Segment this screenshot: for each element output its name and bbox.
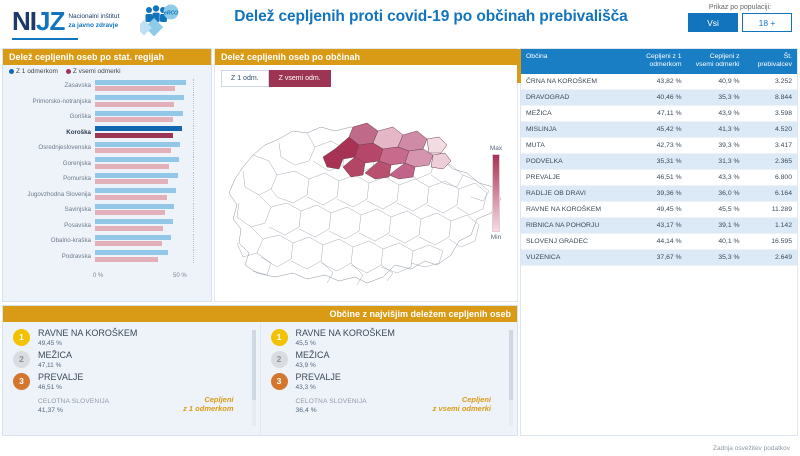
- region-bar-group: [95, 234, 207, 248]
- table-cell-population: 4.520: [745, 121, 797, 137]
- region-bar-group: [95, 187, 207, 201]
- bar-one-dose: [95, 126, 182, 131]
- table-cell-one-dose: 43,17 %: [626, 217, 687, 233]
- legend-label-one-dose: Z 1 odmerkom: [16, 68, 58, 75]
- bar-one-dose: [95, 111, 183, 116]
- region-bar-group: [95, 203, 207, 217]
- region-bar-row[interactable]: Savinjska: [7, 202, 207, 218]
- region-chart-panel: Delež cepljenih oseb po stat. regijah Z …: [2, 48, 212, 302]
- top-municipality-name: MEŽICA: [296, 351, 330, 361]
- bar-all-doses: [95, 164, 169, 169]
- bar-one-dose: [95, 95, 184, 100]
- bar-all-doses: [95, 210, 165, 215]
- top-municipality-item[interactable]: 3PREVALJE46,51 %: [13, 373, 250, 391]
- top-municipality-value: 43,3 %: [296, 384, 341, 391]
- population-selector-label: Prikaz po populaciji:: [688, 4, 792, 11]
- table-cell-all-doses: 39,3 %: [687, 137, 745, 153]
- slovenia-map[interactable]: [215, 87, 519, 299]
- map-container[interactable]: Max Min: [215, 87, 519, 303]
- chart-gridline: [193, 141, 194, 155]
- chart-gridline: [193, 79, 194, 93]
- top-municipality-value: 43,9 %: [296, 362, 330, 369]
- top-municipality-value: 46,51 %: [38, 384, 83, 391]
- table-cell-all-doses: 36,0 %: [687, 185, 745, 201]
- legend-dot-one-dose: [9, 69, 14, 74]
- table-header-all-doses[interactable]: Cepljeni z vsemi odmerki: [687, 49, 745, 74]
- bar-all-doses: [95, 257, 158, 262]
- top-municipality-item[interactable]: 1RAVNE NA KOROŠKEM49,45 %: [13, 329, 250, 347]
- table-cell-one-dose: 49,45 %: [626, 201, 687, 217]
- bar-one-dose: [95, 157, 179, 162]
- logo-subtitle-line2: za javno zdravje: [68, 22, 118, 29]
- top-municipality-name: MEŽICA: [38, 351, 72, 361]
- map-panel-title: Delež cepljenih oseb po občinah: [215, 49, 517, 65]
- bar-one-dose: [95, 250, 168, 255]
- dose-type-tag-line2: z 1 odmerkom: [183, 404, 233, 414]
- region-bar-label: Posavska: [7, 222, 95, 229]
- map-legend-gradient: [492, 154, 500, 232]
- chart-gridline: [193, 94, 194, 108]
- region-bar-label: Gorenjska: [7, 160, 95, 167]
- rank-badge-1: 1: [13, 329, 30, 346]
- top-list-scrollbar-thumb[interactable]: [509, 330, 513, 400]
- population-selector: Prikaz po populaciji: Vsi 18 +: [688, 4, 792, 32]
- region-bar-label: Zasavska: [7, 82, 95, 89]
- rank-badge-1: 1: [271, 329, 288, 346]
- svg-text:eRCO: eRCO: [164, 11, 178, 17]
- table-row[interactable]: SLOVENJ GRADEC44,14 %40,1 %16.595: [521, 233, 797, 249]
- chart-gridline: [193, 156, 194, 170]
- table-cell-population: 8.844: [745, 89, 797, 105]
- region-bar-row[interactable]: Gorenjska: [7, 156, 207, 172]
- table-cell-obcina: MUTA: [521, 137, 626, 153]
- map-panel: Delež cepljenih oseb po občinah Z 1 odm.…: [214, 48, 518, 302]
- table-cell-one-dose: 44,14 %: [626, 233, 687, 249]
- table-row[interactable]: RIBNICA NA POHORJU43,17 %39,1 %1.142: [521, 217, 797, 233]
- table-cell-population: 6.800: [745, 169, 797, 185]
- region-bar-label: Osrednjeslovenska: [7, 144, 95, 151]
- table-accent-bar: [517, 49, 521, 83]
- bar-all-doses: [95, 102, 174, 107]
- bar-all-doses: [95, 86, 175, 91]
- dose-type-tag-line1: Cepljeni: [183, 395, 233, 405]
- table-cell-all-doses: 39,1 %: [687, 217, 745, 233]
- last-refresh-note: Zadnja osvežitev podatkov: [713, 445, 790, 452]
- bar-all-doses: [95, 226, 163, 231]
- table-cell-all-doses: 43,3 %: [687, 169, 745, 185]
- slovenia-total-value: 41,37 %: [38, 407, 109, 414]
- table-cell-obcina: MISLINJA: [521, 121, 626, 137]
- top-municipality-value: 45,5 %: [296, 340, 395, 347]
- top-municipality-name: PREVALJE: [296, 373, 341, 383]
- map-tab-all-doses[interactable]: Z vsemi odm.: [269, 70, 331, 87]
- region-bar-row[interactable]: Posavska: [7, 218, 207, 234]
- region-bar-label: Primorsko-notranjska: [7, 98, 95, 105]
- bar-all-doses: [95, 148, 171, 153]
- chart-gridline: [193, 110, 194, 124]
- region-bar-label: Obalno-kraška: [7, 237, 95, 244]
- bar-all-doses: [95, 179, 168, 184]
- table-cell-population: 3.417: [745, 137, 797, 153]
- region-bar-row[interactable]: Zasavska: [7, 78, 207, 94]
- table-cell-all-doses: 41,3 %: [687, 121, 745, 137]
- region-bar-group: [95, 156, 207, 170]
- top-list-scrollbar-thumb[interactable]: [252, 330, 256, 400]
- page-title: Delež cepljenih proti covid-19 po občina…: [196, 8, 666, 26]
- nijz-logo: NIJZ Nacionalni inštitut za javno zdravj…: [12, 6, 119, 37]
- table-row[interactable]: RADLJE OB DRAVI39,36 %36,0 %6.164: [521, 185, 797, 201]
- table-row[interactable]: MUTA42,73 %39,3 %3.417: [521, 137, 797, 153]
- chart-gridline: [193, 218, 194, 232]
- table-row[interactable]: ČRNA NA KOROŠKEM43,82 %40,9 %3.252: [521, 74, 797, 90]
- header: NIJZ Nacionalni inštitut za javno zdravj…: [0, 0, 800, 44]
- table-row[interactable]: PREVALJE46,51 %43,3 %6.800: [521, 169, 797, 185]
- table-cell-one-dose: 35,31 %: [626, 153, 687, 169]
- table-cell-obcina: DRAVOGRAD: [521, 89, 626, 105]
- bar-all-doses: [95, 195, 167, 200]
- legend-item-one-dose: Z 1 odmerkom: [9, 68, 58, 75]
- map-legend-max-label: Max: [483, 145, 509, 152]
- chart-gridline: [193, 187, 194, 201]
- table-header-population[interactable]: Št. prebivalcev: [745, 49, 797, 74]
- dose-type-tag: Cepljeniz vsemi odmerki: [433, 395, 507, 415]
- bar-one-dose: [95, 188, 176, 193]
- table-cell-one-dose: 43,82 %: [626, 74, 687, 90]
- region-bar-row[interactable]: Obalno-kraška: [7, 233, 207, 249]
- region-bar-group: [95, 218, 207, 232]
- population-button-vsi[interactable]: Vsi: [688, 13, 738, 32]
- table-cell-population: 1.142: [745, 217, 797, 233]
- map-tab-one-dose[interactable]: Z 1 odm.: [221, 70, 269, 87]
- bar-one-dose: [95, 219, 173, 224]
- region-bar-group: [95, 110, 207, 124]
- table-cell-all-doses: 31,3 %: [687, 153, 745, 169]
- region-bar-row[interactable]: Goriška: [7, 109, 207, 125]
- region-chart-title: Delež cepljenih oseb po stat. regijah: [3, 49, 211, 65]
- table-cell-one-dose: 37,67 %: [626, 249, 687, 265]
- map-tabs: Z 1 odm. Z vsemi odm.: [215, 65, 517, 87]
- region-bar-label: Jugovzhodna Slovenija: [7, 191, 95, 198]
- top-municipalities-column: 1RAVNE NA KOROŠKEM49,45 %2MEŽICA47,11 %3…: [3, 322, 260, 434]
- table-cell-population: 3.598: [745, 105, 797, 121]
- dose-type-tag: Cepljeniz 1 odmerkom: [183, 395, 249, 415]
- table-head: Občina Cepljeni z 1 odmerkom Cepljeni z …: [521, 49, 797, 74]
- map-color-legend: Max Min: [483, 145, 509, 241]
- logo-subtitle-line1: Nacionalni inštitut: [68, 13, 119, 20]
- table-cell-population: 2.649: [745, 249, 797, 265]
- region-chart-bars: ZasavskaPrimorsko-notranjskaGoriškaKoroš…: [7, 78, 207, 264]
- table-row[interactable]: PODVELKA35,31 %31,3 %2.365: [521, 153, 797, 169]
- region-bar-group: [95, 141, 207, 155]
- table-cell-obcina: MEŽICA: [521, 105, 626, 121]
- bar-one-dose: [95, 142, 180, 147]
- chart-gridline: [193, 234, 194, 248]
- table-row[interactable]: DRAVOGRAD40,46 %35,3 %8.844: [521, 89, 797, 105]
- slovenia-total-label: CELOTNA SLOVENIJA: [296, 398, 367, 405]
- table-cell-one-dose: 40,46 %: [626, 89, 687, 105]
- region-chart-legend: Z 1 odmerkom Z vsemi odmerki: [3, 65, 211, 76]
- table-body: ČRNA NA KOROŠKEM43,82 %40,9 %3.252DRAVOG…: [521, 74, 797, 266]
- table-cell-one-dose: 47,11 %: [626, 105, 687, 121]
- top-municipality-name: PREVALJE: [38, 373, 83, 383]
- axis-tick-50: 50 %: [173, 273, 187, 279]
- legend-item-all-doses: Z vsemi odmerki: [66, 68, 121, 75]
- region-bar-row[interactable]: Pomurska: [7, 171, 207, 187]
- region-bar-group: [95, 172, 207, 186]
- top-municipality-item[interactable]: 2MEŽICA43,9 %: [271, 351, 508, 369]
- table-row[interactable]: RAVNE NA KOROŠKEM49,45 %45,5 %11.289: [521, 201, 797, 217]
- table-cell-all-doses: 35,3 %: [687, 89, 745, 105]
- map-legend-min-label: Min: [483, 234, 509, 241]
- table-cell-population: 3.252: [745, 74, 797, 90]
- table-cell-obcina: PREVALJE: [521, 169, 626, 185]
- logo-wordmark: NIJZ: [12, 6, 64, 37]
- table-cell-obcina: RAVNE NA KOROŠKEM: [521, 201, 626, 217]
- table-cell-obcina: RADLJE OB DRAVI: [521, 185, 626, 201]
- table-cell-one-dose: 45,42 %: [626, 121, 687, 137]
- table-cell-obcina: PODVELKA: [521, 153, 626, 169]
- top-municipality-name: RAVNE NA KOROŠKEM: [38, 329, 137, 339]
- bar-all-doses: [95, 133, 173, 138]
- region-bar-label: Savinjska: [7, 206, 95, 213]
- logo-divider: [12, 38, 78, 40]
- slovenia-total-label: CELOTNA SLOVENIJA: [38, 398, 109, 405]
- erco-people-icon: eRCO: [140, 4, 182, 40]
- axis-tick-0: 0 %: [93, 273, 103, 279]
- rank-badge-2: 2: [271, 351, 288, 368]
- region-bar-label: Pomurska: [7, 175, 95, 182]
- chart-gridline: [193, 203, 194, 217]
- region-bar-row[interactable]: Jugovzhodna Slovenija: [7, 187, 207, 203]
- table-header-obcina[interactable]: Občina: [521, 49, 626, 74]
- rank-badge-3: 3: [13, 373, 30, 390]
- region-bar-row[interactable]: Osrednjeslovenska: [7, 140, 207, 156]
- table-cell-one-dose: 46,51 %: [626, 169, 687, 185]
- bar-one-dose: [95, 235, 171, 240]
- region-bar-row[interactable]: Koroška: [7, 125, 207, 141]
- table-cell-population: 11.289: [745, 201, 797, 217]
- population-button-18plus[interactable]: 18 +: [742, 13, 792, 32]
- table-row[interactable]: VUZENICA37,67 %35,3 %2.649: [521, 249, 797, 265]
- table-cell-obcina: RIBNICA NA POHORJU: [521, 217, 626, 233]
- table-header-row: Občina Cepljeni z 1 odmerkom Cepljeni z …: [521, 49, 797, 74]
- region-bar-row[interactable]: Podravska: [7, 249, 207, 265]
- slovenia-total-row: CELOTNA SLOVENIJA36,4 %Cepljeniz vsemi o…: [271, 395, 508, 415]
- table-cell-obcina: ČRNA NA KOROŠKEM: [521, 74, 626, 90]
- top-municipalities-panel: Občine z najvišjim deležem cepljenih ose…: [2, 305, 518, 436]
- region-bar-group: [95, 249, 207, 263]
- region-bar-group: [95, 94, 207, 108]
- table-cell-one-dose: 42,73 %: [626, 137, 687, 153]
- table-cell-obcina: SLOVENJ GRADEC: [521, 233, 626, 249]
- table-cell-population: 6.164: [745, 185, 797, 201]
- rank-badge-2: 2: [13, 351, 30, 368]
- municipality-table-panel: Občina Cepljeni z 1 odmerkom Cepljeni z …: [520, 48, 798, 436]
- region-chart-axis: 0 % 50 %: [95, 272, 207, 284]
- table-cell-obcina: VUZENICA: [521, 249, 626, 265]
- table-cell-all-doses: 45,5 %: [687, 201, 745, 217]
- legend-label-all-doses: Z vsemi odmerki: [73, 68, 121, 75]
- slovenia-total-row: CELOTNA SLOVENIJA41,37 %Cepljeniz 1 odme…: [13, 395, 250, 415]
- dose-type-tag-line2: z vsemi odmerki: [433, 404, 491, 414]
- top-municipalities-column: 1RAVNE NA KOROŠKEM45,5 %2MEŽICA43,9 %3PR…: [260, 322, 518, 434]
- dashboard-root: NIJZ Nacionalni inštitut za javno zdravj…: [0, 0, 800, 456]
- region-chart-plot: ZasavskaPrimorsko-notranjskaGoriškaKoroš…: [3, 76, 211, 272]
- top-municipality-item[interactable]: 1RAVNE NA KOROŠKEM45,5 %: [271, 329, 508, 347]
- chart-gridline: [193, 249, 194, 263]
- rank-badge-3: 3: [271, 373, 288, 390]
- slovenia-total-value: 36,4 %: [296, 407, 367, 414]
- table-row[interactable]: MEŽICA47,11 %43,9 %3.598: [521, 105, 797, 121]
- logo-subtitle: Nacionalni inštitut za javno zdravje: [68, 13, 119, 29]
- table-cell-all-doses: 35,3 %: [687, 249, 745, 265]
- table-row[interactable]: MISLINJA45,42 %41,3 %4.520: [521, 121, 797, 137]
- bar-all-doses: [95, 117, 173, 122]
- top-municipality-item[interactable]: 2MEŽICA47,11 %: [13, 351, 250, 369]
- table-cell-one-dose: 39,36 %: [626, 185, 687, 201]
- table-cell-all-doses: 40,1 %: [687, 233, 745, 249]
- dose-type-tag-line1: Cepljeni: [433, 395, 491, 405]
- top-municipalities-title: Občine z najvišjim deležem cepljenih ose…: [3, 306, 517, 322]
- bar-one-dose: [95, 173, 178, 178]
- bar-all-doses: [95, 241, 162, 246]
- top-municipality-value: 49,45 %: [38, 340, 137, 347]
- legend-dot-all-doses: [66, 69, 71, 74]
- table-header-one-dose[interactable]: Cepljeni z 1 odmerkom: [626, 49, 687, 74]
- chart-gridline: [193, 172, 194, 186]
- top-municipalities-columns: 1RAVNE NA KOROŠKEM49,45 %2MEŽICA47,11 %3…: [3, 322, 517, 434]
- region-bar-row[interactable]: Primorsko-notranjska: [7, 94, 207, 110]
- region-bar-label: Podravska: [7, 253, 95, 260]
- bar-one-dose: [95, 80, 186, 85]
- top-municipality-item[interactable]: 3PREVALJE43,3 %: [271, 373, 508, 391]
- chart-gridline: [193, 125, 194, 139]
- bar-one-dose: [95, 204, 174, 209]
- region-bar-group: [95, 125, 207, 139]
- table-cell-all-doses: 40,9 %: [687, 74, 745, 90]
- table-cell-all-doses: 43,9 %: [687, 105, 745, 121]
- top-municipality-value: 47,11 %: [38, 362, 72, 369]
- table-cell-population: 16.595: [745, 233, 797, 249]
- region-bar-label: Koroška: [7, 129, 95, 136]
- region-bar-label: Goriška: [7, 113, 95, 120]
- region-bar-group: [95, 79, 207, 93]
- table-cell-population: 2.365: [745, 153, 797, 169]
- municipality-table: Občina Cepljeni z 1 odmerkom Cepljeni z …: [521, 49, 797, 266]
- top-municipality-name: RAVNE NA KOROŠKEM: [296, 329, 395, 339]
